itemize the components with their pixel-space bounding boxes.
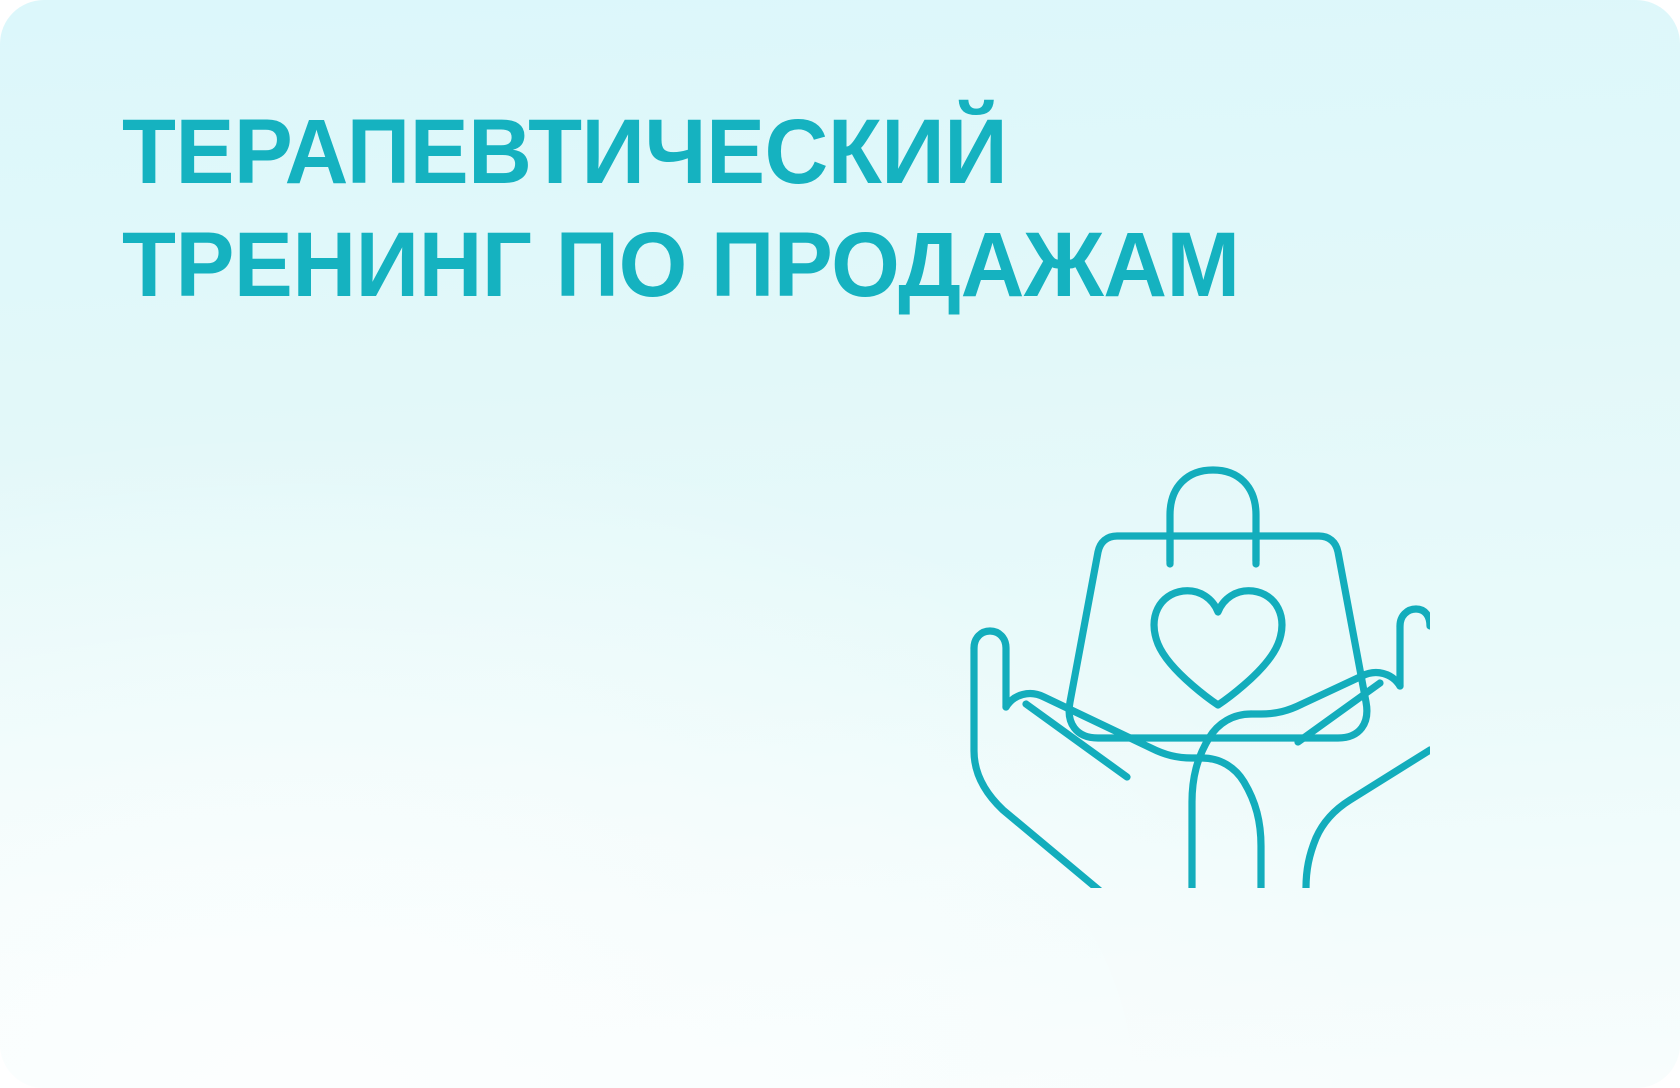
shopping-bag-handle-icon bbox=[1170, 470, 1256, 561]
page-title-line-1: ТЕРАПЕВТИЧЕСКИЙ bbox=[122, 96, 1466, 209]
page-title-line-2: ТРЕНИНГ ПО ПРОДАЖАМ bbox=[122, 209, 1466, 322]
hands-holding-shopping-bag-with-heart-icon bbox=[930, 418, 1430, 888]
heart-icon bbox=[1154, 591, 1282, 705]
right-hand-icon bbox=[1192, 609, 1430, 888]
page-title: ТЕРАПЕВТИЧЕСКИЙ ТРЕНИНГ ПО ПРОДАЖАМ bbox=[122, 96, 1466, 322]
left-hand-icon bbox=[974, 631, 1261, 888]
banner-card: ТЕРАПЕВТИЧЕСКИЙ ТРЕНИНГ ПО ПРОДАЖАМ bbox=[0, 0, 1680, 1088]
